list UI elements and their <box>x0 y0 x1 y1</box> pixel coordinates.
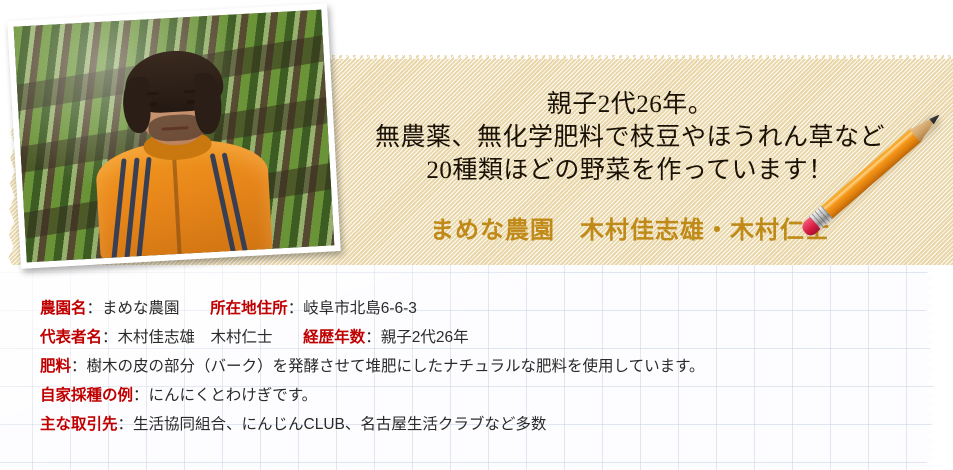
detail-row-2: 代表者名：木村佳志雄 木村仁士 経歴年数：親子2代26年 <box>40 323 900 352</box>
headline-line-3: 20種類ほどの野菜を作っています！ <box>350 154 910 187</box>
detail-row-1: 農園名：まめな農園 所在地住所：岐阜市北島6-6-3 <box>40 294 900 323</box>
detail-separator-3: ： <box>71 358 87 375</box>
detail-separator-5: ： <box>118 416 134 433</box>
headline-line-1: 親子2代26年。 <box>350 88 910 121</box>
detail-value-seed-saving: にんにくとわけぎです。 <box>149 387 318 404</box>
farmer-photo-image <box>14 10 335 263</box>
detail-separator-4: ： <box>133 387 149 404</box>
farmer-photo <box>7 3 340 268</box>
detail-value-main-clients: 生活協同組合、にんじんCLUB、名古屋生活クラブなど多数 <box>133 416 546 433</box>
farm-profile-card: 親子2代26年。 無農薬、無化学肥料で枝豆やほうれん草など 20種類ほどの野菜を… <box>0 0 953 470</box>
detail-label-address: 所在地住所 <box>210 300 288 317</box>
detail-separator-2b: ： <box>365 329 381 346</box>
headline: 親子2代26年。 無農薬、無化学肥料で枝豆やほうれん草など 20種類ほどの野菜を… <box>350 88 910 187</box>
detail-value-years: 親子2代26年 <box>381 329 469 346</box>
detail-separator-1b: ： <box>288 300 304 317</box>
detail-label-seed-saving: 自家採種の例 <box>40 387 133 404</box>
detail-row-5: 主な取引先：生活協同組合、にんじんCLUB、名古屋生活クラブなど多数 <box>40 410 900 439</box>
detail-label-farm-name: 農園名 <box>40 300 87 317</box>
detail-row-4: 自家採種の例：にんにくとわけぎです。 <box>40 381 900 410</box>
detail-value-representative: 木村佳志雄 木村仁士 <box>118 329 273 346</box>
detail-separator-2a: ： <box>102 329 118 346</box>
detail-value-address: 岐阜市北島6-6-3 <box>303 300 417 317</box>
detail-separator-1a: ： <box>87 300 103 317</box>
detail-value-farm-name: まめな農園 <box>102 300 180 317</box>
detail-label-fertilizer: 肥料 <box>40 358 71 375</box>
headline-line-2: 無農薬、無化学肥料で枝豆やほうれん草など <box>350 121 910 154</box>
photo-eye-left <box>149 101 158 105</box>
detail-value-fertilizer: 樹木の皮の部分（バーク）を発酵させて堆肥にしたナチュラルな肥料を使用しています。 <box>87 358 705 375</box>
detail-label-representative: 代表者名 <box>40 329 102 346</box>
detail-label-years: 経歴年数 <box>303 329 365 346</box>
farm-details: 農園名：まめな農園 所在地住所：岐阜市北島6-6-3 代表者名：木村佳志雄 木村… <box>40 294 900 439</box>
photo-eye-right <box>186 99 195 103</box>
detail-row-3: 肥料：樹木の皮の部分（バーク）を発酵させて堆肥にしたナチュラルな肥料を使用してい… <box>40 352 900 381</box>
detail-label-main-clients: 主な取引先 <box>40 416 118 433</box>
